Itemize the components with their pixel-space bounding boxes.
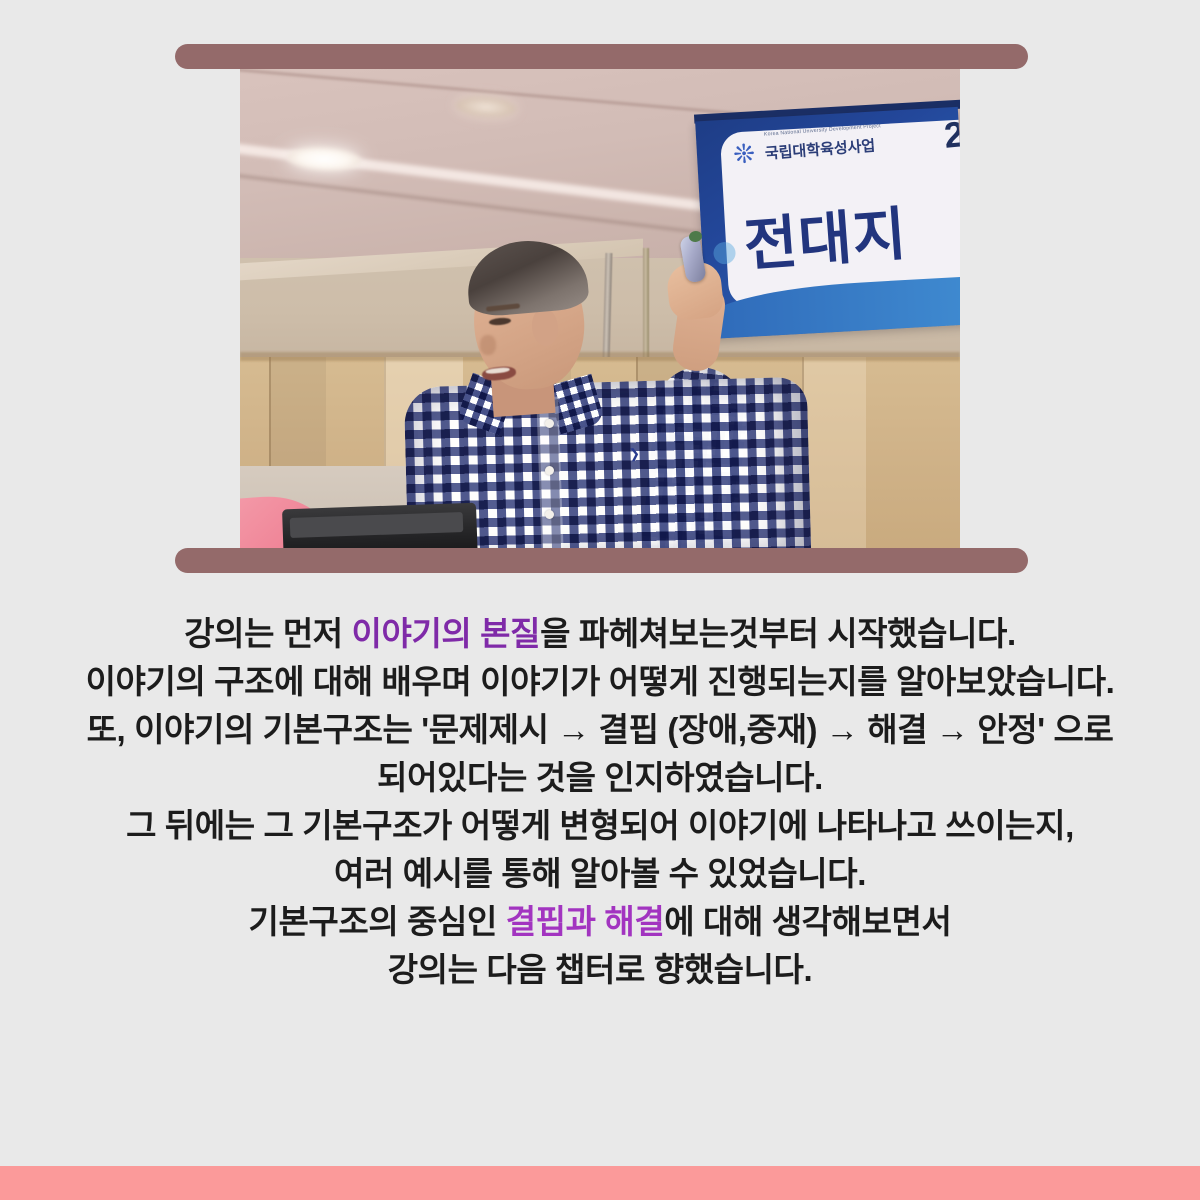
caption-segment: 기본구조의 중심인 — [249, 903, 506, 940]
lecture-photo: ❊ Korea National University Development … — [240, 60, 960, 555]
caption-segment: 되어있다는 것을 인지하였습니다. — [377, 759, 823, 796]
bottom-accent-bar — [0, 1166, 1200, 1200]
shirt-button — [545, 419, 554, 428]
caption-segment: 그 뒤에는 그 기본구조가 어떻게 변형되어 이야기에 나타나고 쓰이는지, — [126, 807, 1074, 844]
caption-line: 강의는 다음 챕터로 향했습니다. — [0, 946, 1200, 994]
lecture-photo-card: ❊ Korea National University Development … — [0, 0, 1200, 600]
caption-segment: 강의는 먼저 — [184, 615, 351, 652]
decoration-bar-top — [175, 44, 1028, 69]
shirt-logo-icon: ❯ — [628, 446, 641, 463]
caption-segment: 강의는 다음 챕터로 향했습니다. — [388, 951, 813, 988]
caption-highlight: 결핍과 해결 — [506, 903, 665, 940]
shirt-button — [545, 510, 554, 519]
caption-line: 되어있다는 것을 인지하였습니다. — [0, 754, 1200, 802]
speaker-nose — [480, 335, 496, 355]
caption-line: 기본구조의 중심인 결핍과 해결에 대해 생각해보면서 — [0, 898, 1200, 946]
caption-line: 이야기의 구조에 대해 배우며 이야기가 어떻게 진행되는지를 알아보았습니다. — [0, 658, 1200, 706]
caption-line: 그 뒤에는 그 기본구조가 어떻게 변형되어 이야기에 나타나고 쓰이는지, — [0, 802, 1200, 850]
caption-line: 또, 이야기의 기본구조는 '문제제시 → 결핍 (장애,중재) → 해결 → … — [0, 706, 1200, 754]
caption-line: 강의는 먼저 이야기의 본질을 파헤쳐보는것부터 시작했습니다. — [0, 610, 1200, 658]
speaker-hair — [464, 236, 590, 318]
decoration-bar-bottom — [175, 548, 1028, 573]
speaker-figure: ❯ — [240, 60, 960, 555]
shirt-button — [545, 466, 554, 475]
caption-highlight: 이야기의 본질 — [352, 615, 541, 652]
caption-line: 여러 예시를 통해 알아볼 수 있었습니다. — [0, 850, 1200, 898]
caption-segment: 이야기의 구조에 대해 배우며 이야기가 어떻게 진행되는지를 알아보았습니다. — [86, 663, 1115, 700]
caption-segment: 에 대해 생각해보면서 — [664, 903, 951, 940]
caption-segment: 또, 이야기의 기본구조는 '문제제시 → 결핍 (장애,중재) → 해결 → … — [87, 711, 1114, 748]
caption-text: 강의는 먼저 이야기의 본질을 파헤쳐보는것부터 시작했습니다.이야기의 구조에… — [0, 610, 1200, 994]
caption-segment: 여러 예시를 통해 알아볼 수 있었습니다. — [334, 855, 866, 892]
caption-segment: 을 파헤쳐보는것부터 시작했습니다. — [540, 615, 1016, 652]
